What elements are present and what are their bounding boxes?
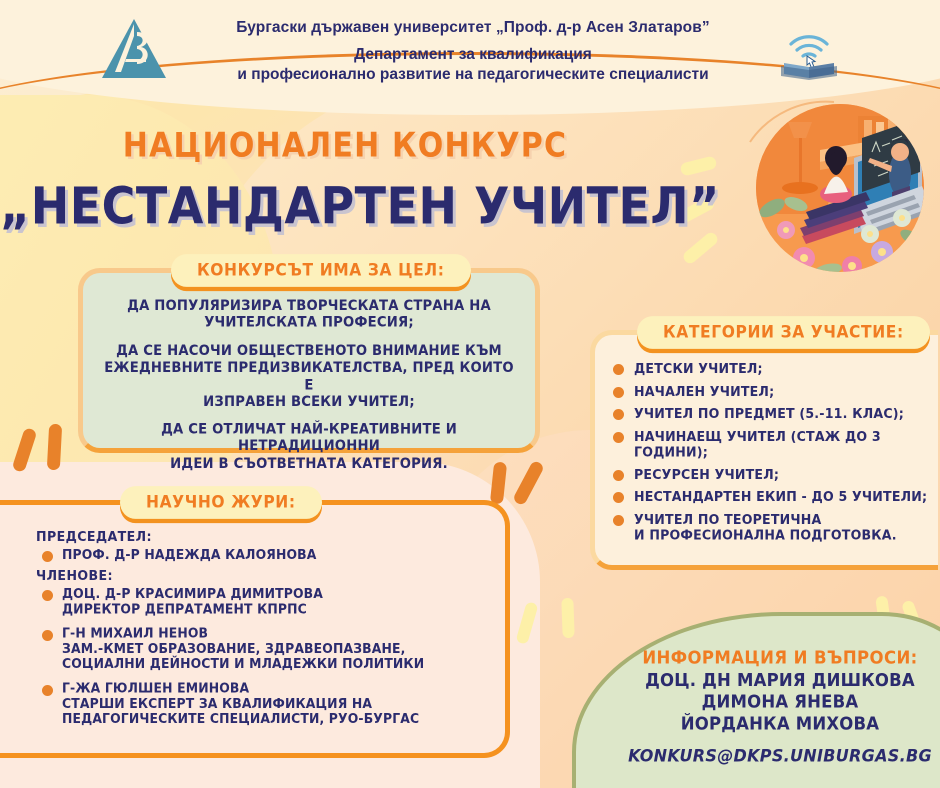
jury-pill-label: НАУЧНО ЖУРИ: — [120, 486, 322, 519]
category-label: УЧИТЕЛ ПО ПРЕДМЕТ (5.-11. КЛАС); — [634, 406, 904, 422]
poster-header: Бургаски държавен университет „Проф. д-р… — [0, 0, 940, 100]
category-label: РЕСУРСЕН УЧИТЕЛ; — [634, 466, 779, 482]
bullet-icon — [613, 387, 624, 398]
goals-pill-label: КОНКУРСЪТ ИМА ЗА ЦЕЛ: — [171, 254, 471, 287]
category-label: НАЧАЛЕН УЧИТЕЛ; — [634, 383, 774, 399]
header-line-2: Департамент за квалификация — [183, 45, 763, 65]
list-item: Г-Н МИХАИЛ НЕНОВ ЗАМ.-КМЕТ ОБРАЗОВАНИЕ, … — [36, 627, 485, 671]
list-item: НАЧАЛЕН УЧИТЕЛ; — [613, 384, 932, 399]
jury-members-role: ЧЛЕНОВЕ: — [36, 567, 485, 583]
header-line-3: и професионално развитие на педагогическ… — [183, 65, 763, 85]
title-subtitle: НАЦИОНАЛЕН КОНКУРС — [0, 126, 690, 166]
goal-item: ДА ПОПУЛЯРИЗИРА ТВОРЧЕСКАТА СТРАНА НА УЧ… — [99, 298, 519, 332]
bullet-icon — [42, 551, 53, 562]
contact-section: ИНФОРМАЦИЯ И ВЪПРОСИ: ДОЦ. ДН МАРИЯ ДИШК… — [600, 648, 940, 765]
jury-member-name: Г-ЖА ГЮЛШЕН ЕМИНОВА СТАРШИ ЕКСПЕРТ ЗА КВ… — [62, 681, 419, 727]
goals-content: ДА ПОПУЛЯРИЗИРА ТВОРЧЕСКАТА СТРАНА НА УЧ… — [83, 273, 535, 472]
jury-chair-role: ПРЕДСЕДАТЕЛ: — [36, 529, 485, 545]
jury-content: ПРЕДСЕДАТЕЛ: ПРОФ. Д-Р НАДЕЖДА КАЛОЯНОВА… — [0, 505, 505, 726]
jury-chair-name: ПРОФ. Д-Р НАДЕЖДА КАЛОЯНОВА — [62, 548, 317, 563]
poster-canvas: Бургаски държавен университет „Проф. д-р… — [0, 0, 940, 788]
list-item: ПРОФ. Д-Р НАДЕЖДА КАЛОЯНОВА — [36, 548, 485, 563]
list-item: НАЧИНАЕЩ УЧИТЕЛ (СТАЖ ДО 3 ГОДИНИ); — [613, 429, 932, 459]
contact-title: ИНФОРМАЦИЯ И ВЪПРОСИ: — [600, 647, 940, 668]
bullet-icon — [42, 590, 53, 601]
list-item: НЕСТАНДАРТЕН ЕКИП - ДО 5 УЧИТЕЛИ; — [613, 489, 932, 504]
burgas-university-logo — [99, 16, 169, 82]
category-label: УЧИТЕЛ ПО ТЕОРЕТИЧНА И ПРОФЕСИОНАЛНА ПОД… — [634, 511, 897, 543]
list-item: ДЕТСКИ УЧИТЕЛ; — [613, 361, 932, 376]
goals-card: КОНКУРСЪТ ИМА ЗА ЦЕЛ: ДА ПОПУЛЯРИЗИРА ТВ… — [78, 268, 540, 453]
list-item: УЧИТЕЛ ПО ТЕОРЕТИЧНА И ПРОФЕСИОНАЛНА ПОД… — [613, 512, 932, 542]
title-block: НАЦИОНАЛЕН КОНКУРС „НЕСТАНДАРТЕН УЧИТЕЛ” — [0, 128, 690, 233]
bullet-icon — [613, 492, 624, 503]
categories-card: КАТЕГОРИИ ЗА УЧАСТИЕ: ДЕТСКИ УЧИТЕЛ; НАЧ… — [590, 330, 938, 570]
bullet-icon — [613, 470, 624, 481]
bullet-icon — [613, 364, 624, 375]
decor-dash-orange-2 — [47, 424, 62, 471]
jury-card: НАУЧНО ЖУРИ: ПРЕДСЕДАТЕЛ: ПРОФ. Д-Р НАДЕ… — [0, 500, 510, 758]
list-item: ДОЦ. Д-Р КРАСИМИРА ДИМИТРОВА ДИРЕКТОР ДЕ… — [36, 587, 485, 616]
bullet-icon — [613, 515, 624, 526]
contact-names: ДОЦ. ДН МАРИЯ ДИШКОВА ДИМОНА ЯНЕВА ЙОРДА… — [600, 670, 940, 735]
category-label: ДЕТСКИ УЧИТЕЛ; — [634, 361, 763, 377]
bullet-icon — [42, 630, 53, 641]
header-line-1: Бургаски държавен университет „Проф. д-р… — [183, 18, 763, 38]
book-wifi-icon — [777, 20, 841, 80]
bullet-icon — [613, 409, 624, 420]
categories-pill-label: КАТЕГОРИИ ЗА УЧАСТИЕ: — [637, 316, 930, 349]
page-title: „НЕСТАНДАРТЕН УЧИТЕЛ” — [0, 176, 690, 235]
goal-item: ДА СЕ ОТЛИЧАТ НАЙ-КРЕАТИВНИТЕ И НЕТРАДИЦ… — [99, 422, 519, 473]
list-item: УЧИТЕЛ ПО ПРЕДМЕТ (5.-11. КЛАС); — [613, 406, 932, 421]
categories-list: ДЕТСКИ УЧИТЕЛ; НАЧАЛЕН УЧИТЕЛ; УЧИТЕЛ ПО… — [595, 335, 938, 542]
online-learning-illustration — [742, 100, 938, 296]
list-item: РЕСУРСЕН УЧИТЕЛ; — [613, 467, 932, 482]
decor-dash-yellow-3 — [561, 598, 574, 638]
header-text-block: Бургаски държавен университет „Проф. д-р… — [183, 14, 763, 84]
bullet-icon — [42, 685, 53, 696]
bullet-icon — [613, 432, 624, 443]
jury-member-name: Г-Н МИХАИЛ НЕНОВ ЗАМ.-КМЕТ ОБРАЗОВАНИЕ, … — [62, 626, 424, 672]
jury-member-name: ДОЦ. Д-Р КРАСИМИРА ДИМИТРОВА ДИРЕКТОР ДЕ… — [62, 586, 323, 617]
category-label: НЕСТАНДАРТЕН ЕКИП - ДО 5 УЧИТЕЛИ; — [634, 489, 927, 505]
goal-item: ДА СЕ НАСОЧИ ОБЩЕСТВЕНОТО ВНИМАНИЕ КЪМ Е… — [99, 343, 519, 411]
category-label: НАЧИНАЕЩ УЧИТЕЛ (СТАЖ ДО 3 ГОДИНИ); — [634, 428, 932, 460]
contact-email[interactable]: KONKURS@DKPS.UNIBURGAS.BG — [600, 746, 940, 766]
list-item: Г-ЖА ГЮЛШЕН ЕМИНОВА СТАРШИ ЕКСПЕРТ ЗА КВ… — [36, 682, 485, 726]
